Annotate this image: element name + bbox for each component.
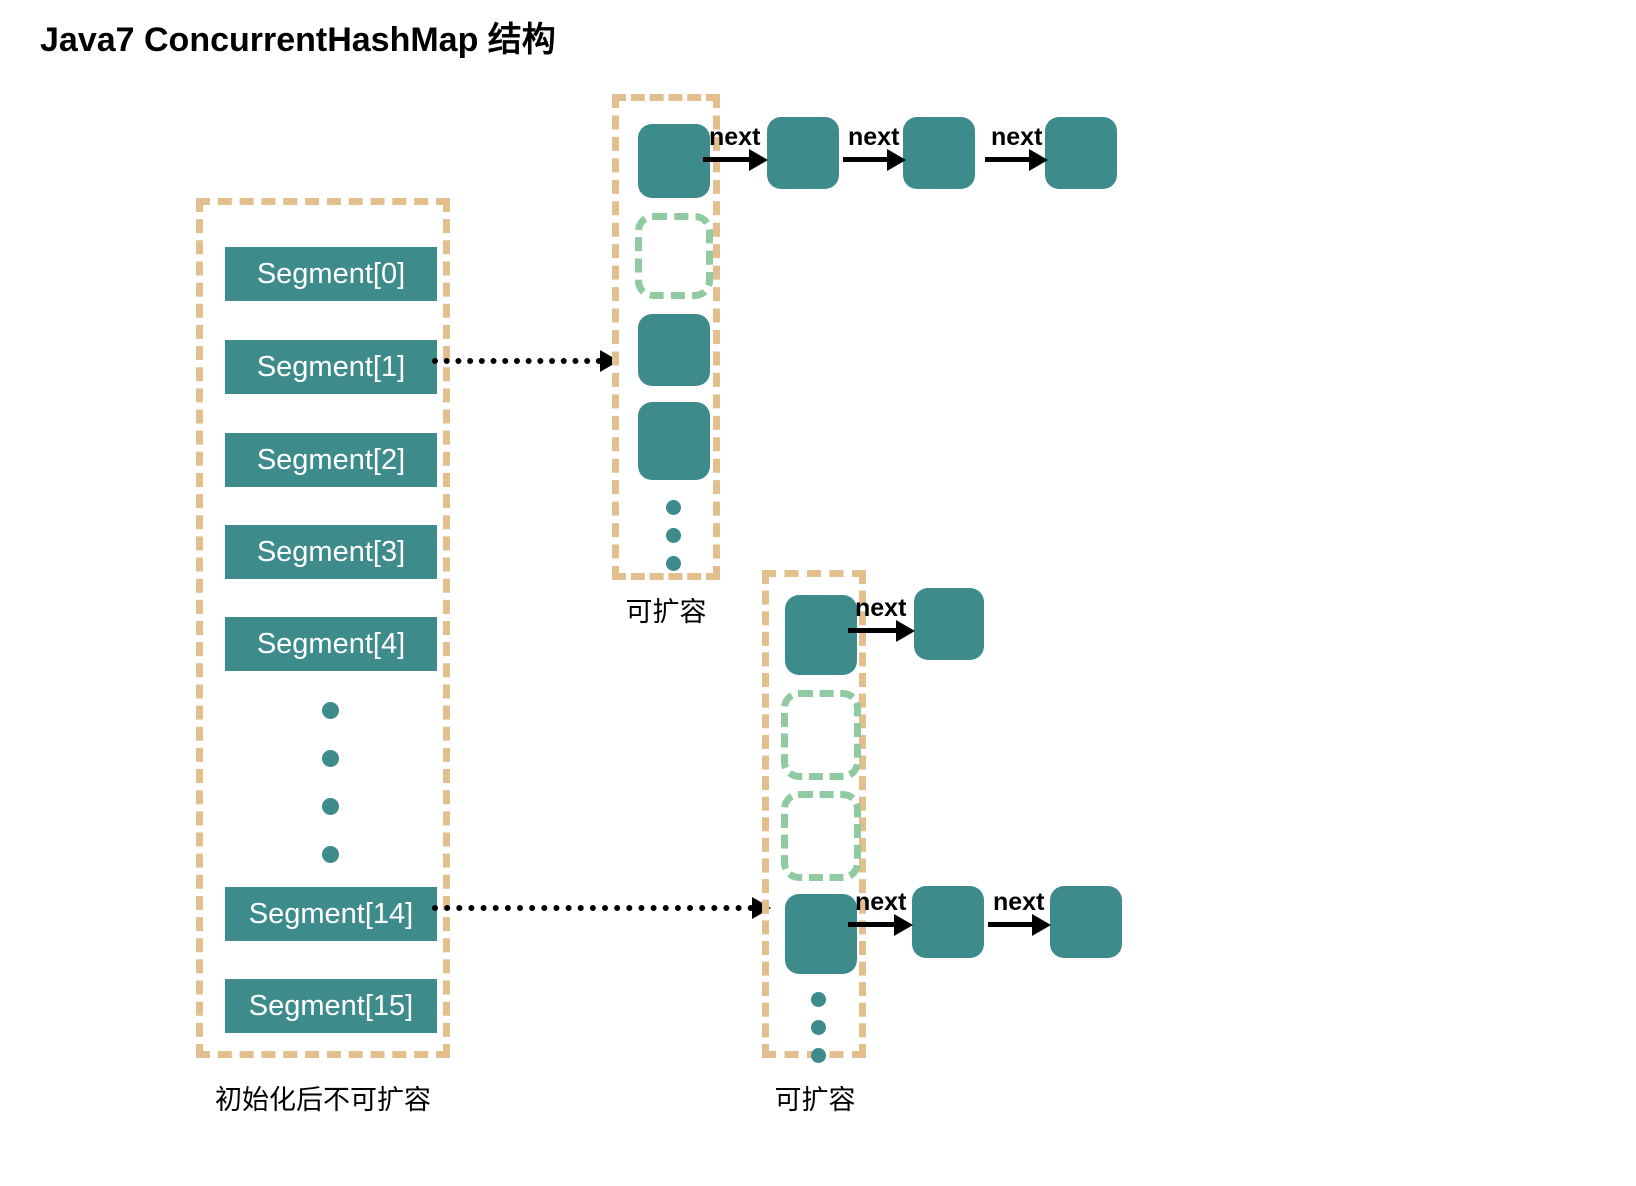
bucket-table-1-container [612,94,720,580]
bucket-2-chain-a-node-2[interactable] [914,588,984,660]
next-label-2-2: next [855,888,906,917]
bucket-2-ellipsis-dot-1 [811,992,826,1007]
segment-box-14[interactable]: Segment[14] [225,887,437,941]
bucket-1-chain-node-4[interactable] [1045,117,1117,189]
segment-box-1[interactable]: Segment[1] [225,340,437,394]
next-label-1-2: next [848,123,899,152]
segment-array-caption: 初始化后不可扩容 [196,1078,450,1117]
segment-box-0[interactable]: Segment[0] [225,247,437,301]
bucket-1-ellipsis-dot-2 [666,528,681,543]
bucket-2-slot-0-node[interactable] [785,595,857,675]
bucket-2-ellipsis-dot-2 [811,1020,826,1035]
bucket-1-ellipsis-dot-3 [666,556,681,571]
segment-ellipsis-dot-1 [322,702,339,719]
next-label-2-1: next [855,594,906,623]
page-title: Java7 ConcurrentHashMap 结构 [40,12,556,61]
bucket-2-chain-b-node-3[interactable] [1050,886,1122,958]
bucket-2-slot-1-empty-node [781,690,861,780]
bucket-1-slot-1-empty-node [635,213,713,299]
diagram-canvas: Java7 ConcurrentHashMap 结构 Segment[0] Se… [0,0,1636,1186]
bucket-2-ellipsis-dot-3 [811,1048,826,1063]
next-label-2-3: next [993,888,1044,917]
bucket-2-slot-2-empty-node [781,791,861,881]
bucket-1-chain-node-2[interactable] [767,117,839,189]
segment-box-15[interactable]: Segment[15] [225,979,437,1033]
next-label-1-3: next [991,123,1042,152]
bucket-table-2-caption: 可扩容 [728,1078,902,1117]
bucket-2-slot-3-node[interactable] [785,894,857,974]
segment-box-2[interactable]: Segment[2] [225,433,437,487]
bucket-1-chain-node-3[interactable] [903,117,975,189]
bucket-1-slot-3-node[interactable] [638,402,710,480]
bucket-1-ellipsis-dot-1 [666,500,681,515]
segment-box-3[interactable]: Segment[3] [225,525,437,579]
bucket-2-chain-b-node-2[interactable] [912,886,984,958]
bucket-table-1-caption: 可扩容 [574,590,758,629]
segment-ellipsis-dot-4 [322,846,339,863]
segment-box-4[interactable]: Segment[4] [225,617,437,671]
segment-array-container: Segment[0] Segment[1] Segment[2] Segment… [196,198,450,1058]
bucket-1-slot-0-node[interactable] [638,124,710,198]
next-label-1-1: next [709,123,760,152]
bucket-1-slot-2-node[interactable] [638,314,710,386]
segment-ellipsis-dot-2 [322,750,339,767]
bucket-table-2-container [762,570,866,1058]
segment-ellipsis-dot-3 [322,798,339,815]
